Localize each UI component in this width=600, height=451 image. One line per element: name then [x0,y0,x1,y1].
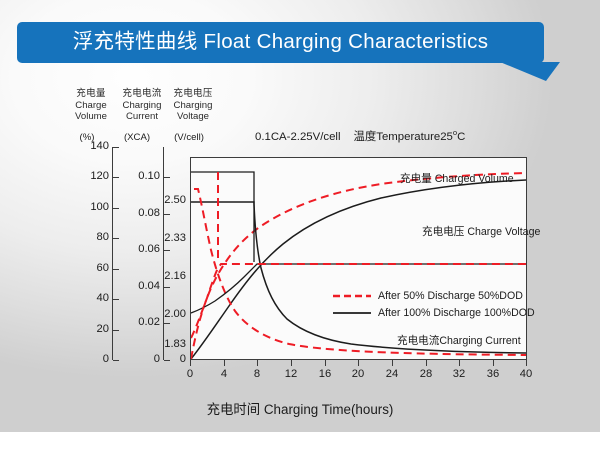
plot-area [190,157,527,360]
legend-swatch-dashed-icon [333,291,371,301]
axis-header-charging-voltage: 充电电压 Charging Voltage [164,88,222,123]
curve-tag-charged-volume: 充电量 Charged Volume [400,171,514,186]
xlabel-8: 8 [242,368,272,380]
chart-conditions: 0.1CA-2.25V/cell温度Temperature25oC [255,128,465,144]
xlabel-0: 0 [175,368,205,380]
header-banner: 浮充特性曲线 Float Charging Characteristics [17,22,544,63]
xlabel-28: 28 [411,368,441,380]
condition-temperature-unit: C [457,131,465,143]
curve-tag-charge-voltage: 充电电压 Charge Voltage [422,224,540,239]
axis-header-charging-voltage-en1: Charging [164,100,222,112]
xlabel-12: 12 [276,368,306,380]
axis-header-charging-current-cn: 充电电流 [113,88,171,100]
tick-cc-002 [164,323,170,324]
tick-cv-60 [113,269,119,270]
tick-label-cv-0: 0 [58,354,109,365]
xlabel-32: 32 [444,368,474,380]
axis-header-charge-volume: 充电量 Charge Volume [62,88,120,123]
xlabel-40: 40 [511,368,541,380]
tick-cc-006 [164,250,170,251]
tick-label-cvolt-200: 2.00 [137,309,186,320]
tick-cv-140 [113,147,119,148]
tick-label-cv-80: 80 [58,232,109,243]
legend-item-dod-50: After 50% Discharge 50%DOD [333,287,533,304]
xlabel-20: 20 [343,368,373,380]
xlabel-4: 4 [209,368,239,380]
xtick-16 [325,360,326,366]
tick-label-cv-100: 100 [58,202,109,213]
axis-header-charge-volume-cn: 充电量 [62,88,120,100]
tick-label-cv-40: 40 [58,293,109,304]
tick-label-cvolt-0: 0 [137,354,186,365]
curve-charged-volume-50dod [191,173,526,359]
xtick-20 [358,360,359,366]
tick-label-cv-20: 20 [58,324,109,335]
axis-header-charging-current-en1: Charging [113,100,171,112]
legend-swatch-solid-icon [333,308,371,318]
axis-header-charge-volume-en2: Volume [62,111,120,123]
xtick-12 [291,360,292,366]
tick-cv-40 [113,299,119,300]
page-title: 浮充特性曲线 Float Charging Characteristics [73,32,489,53]
tick-cv-80 [113,238,119,239]
curve-voltage-plateau-100dod [191,172,254,262]
axis-header-charging-current-en2: Current [113,111,171,123]
legend-label-dod-50: After 50% Discharge 50%DOD [378,290,523,302]
tick-label-cvolt-250: 2.50 [137,195,186,206]
tick-label-cc-010: 0.10 [108,171,160,182]
tick-cc-004 [164,287,170,288]
banner-body: 浮充特性曲线 Float Charging Characteristics [17,22,544,63]
xlabel-24: 24 [377,368,407,380]
tick-label-cc-006: 0.06 [108,244,160,255]
curve-tag-charging-current: 充电电流Charging Current [397,333,521,348]
tick-label-cvolt-233: 2.33 [137,233,186,244]
banner-tail-icon [500,62,560,81]
legend-item-dod-100: After 100% Discharge 100%DOD [333,304,533,321]
tick-label-cv-140: 140 [58,141,109,152]
chart-page: 浮充特性曲线 Float Charging Characteristics 充电… [0,0,600,451]
tick-cc-008 [164,214,170,215]
xtick-8 [257,360,258,366]
axis-header-charging-current: 充电电流 Charging Current [113,88,171,123]
axis-unit-xca: (XCA) [112,132,162,143]
xtick-28 [426,360,427,366]
xtick-4 [224,360,225,366]
tick-label-cv-120: 120 [58,171,109,182]
xlabel-16: 16 [310,368,340,380]
xlabel-36: 36 [478,368,508,380]
axis-header-charging-voltage-en2: Voltage [164,111,222,123]
xtick-40 [526,360,527,366]
tick-label-cvolt-183: 1.83 [137,339,186,350]
xtick-36 [493,360,494,366]
tick-cc-010 [164,177,170,178]
x-axis-title: 充电时间 Charging Time(hours) [0,398,600,418]
tick-label-cvolt-216: 2.16 [137,271,186,282]
axis-unit-vcell: (V/cell) [160,132,218,143]
xtick-24 [392,360,393,366]
axis-header-charging-voltage-cn: 充电电压 [164,88,222,100]
xtick-32 [459,360,460,366]
condition-temperature: 温度Temperature25 [353,131,452,143]
tick-label-cc-004: 0.04 [108,281,160,292]
axis-rail-charging-current [163,147,164,360]
curves-svg [191,158,526,359]
axis-header-charge-volume-en1: Charge [62,100,120,112]
curve-charging-current-50dod [194,189,526,355]
condition-rate: 0.1CA-2.25V/cell [255,131,340,143]
legend-label-dod-100: After 100% Discharge 100%DOD [378,307,535,319]
xtick-0 [190,360,191,366]
tick-label-cc-008: 0.08 [108,208,160,219]
tick-cv-20 [113,330,119,331]
tick-label-cv-60: 60 [58,263,109,274]
chart-legend: After 50% Discharge 50%DOD After 100% Di… [333,287,533,321]
